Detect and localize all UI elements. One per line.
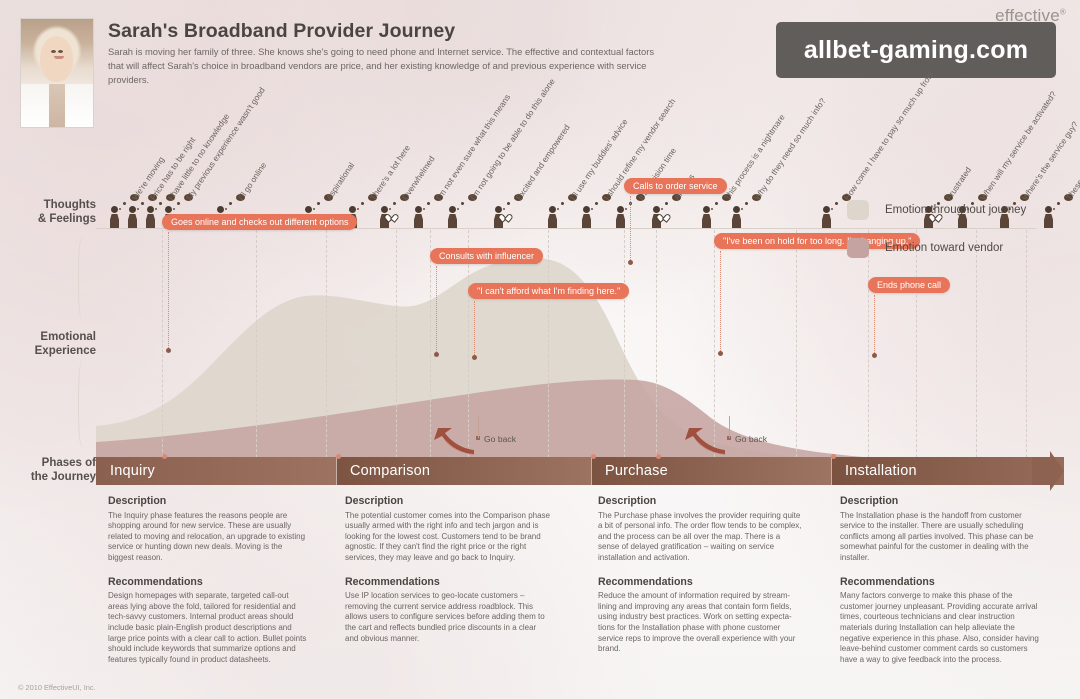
persona-head <box>449 206 456 213</box>
thought-bubble-dot <box>173 208 175 210</box>
persona-body <box>128 214 137 228</box>
row-label-thoughts-feelings: Thoughts & Feelings <box>0 198 96 226</box>
thought-label: These installation times are vague <box>1064 92 1080 202</box>
recommendations-text: Many factors converge to make this phase… <box>840 591 1045 665</box>
thought-bubble-dot <box>835 202 838 205</box>
callout-stem <box>168 232 169 348</box>
go-back-stem <box>729 416 730 438</box>
thought-bubble-dot <box>715 202 718 205</box>
phase-tick-dot <box>336 454 341 459</box>
vertical-guide <box>548 230 549 472</box>
phase-label: Installation <box>831 463 917 479</box>
description-text: The Installation phase is the handoff fr… <box>840 511 1045 564</box>
avatar-eye-right <box>58 50 63 53</box>
vertical-guide <box>796 230 797 472</box>
persona-head <box>129 206 136 213</box>
thought-label: I'll go online <box>236 160 269 202</box>
persona-body <box>110 214 119 228</box>
callout-anchor-dot <box>718 351 723 356</box>
description-block: Description The potential customer comes… <box>345 496 550 564</box>
phase-detail-comparison: Description The potential customer comes… <box>345 496 550 657</box>
persona-head <box>703 206 710 213</box>
persona-head <box>549 206 556 213</box>
heart-icon <box>387 211 395 219</box>
legend-item: Emotion toward vendor <box>847 238 1062 258</box>
thought-bubble-dot <box>561 202 564 205</box>
phase-tick-dot <box>656 454 661 459</box>
persona-body <box>732 214 741 228</box>
thought-bubble-dot <box>361 202 364 205</box>
description-block: Description The Inquiry phase features t… <box>108 496 308 564</box>
legend-label: Emotion throughout journey <box>885 204 1026 216</box>
callout-stem <box>874 295 875 353</box>
vertical-guide <box>656 230 657 472</box>
callout-stem <box>474 301 475 355</box>
go-back-arrow-icon <box>681 426 727 456</box>
vertical-guide <box>256 230 257 472</box>
phase-segment-installation[interactable]: Installation <box>831 457 1064 485</box>
journey-arrow-head-icon <box>1032 451 1064 491</box>
thought-bubble-dot <box>741 208 743 210</box>
persona-body <box>448 214 457 228</box>
recommendations-heading: Recommendations <box>108 577 308 588</box>
persona-body <box>582 214 591 228</box>
journey-callout[interactable]: Consults with influencer <box>430 248 543 264</box>
recommendations-block: Recommendations Reduce the amount of inf… <box>598 577 803 655</box>
persona-body <box>616 214 625 228</box>
phase-divider <box>336 457 337 485</box>
persona-figure <box>146 206 155 228</box>
brand-registered-mark: ® <box>1060 7 1066 16</box>
row-label-line1: Phases of <box>42 457 96 469</box>
thought-label: Aspirational <box>324 160 357 202</box>
persona-head <box>415 206 422 213</box>
thought-bubble-dot <box>225 208 227 210</box>
thought-bubble-dot <box>389 208 391 210</box>
persona-head <box>617 206 624 213</box>
persona-head <box>217 206 224 213</box>
heart-icon <box>659 211 667 219</box>
persona-head <box>823 206 830 213</box>
persona-body <box>548 214 557 228</box>
callout-anchor-dot <box>166 348 171 353</box>
thought-label: Overwhelmed <box>400 154 437 202</box>
thought-bubble-dot <box>745 202 748 205</box>
recommendations-heading: Recommendations <box>598 577 803 588</box>
recommendations-heading: Recommendations <box>345 577 550 588</box>
journey-chart: We're movingPrice has to be rightI have … <box>96 120 1064 470</box>
phase-bar: Inquiry Comparison Purchase Installation <box>96 457 1064 485</box>
row-label-line1: Thoughts <box>44 199 96 211</box>
thought-bubble-dot <box>357 208 359 210</box>
recommendations-block: Recommendations Design homepages with se… <box>108 577 308 666</box>
persona-body <box>414 214 423 228</box>
phase-divider <box>591 457 592 485</box>
thought-bubble-dot <box>155 208 157 210</box>
row-label-line2: Experience <box>35 345 96 357</box>
avatar-eye-left <box>51 50 56 53</box>
vertical-guide <box>326 230 327 472</box>
recommendations-text: Design homepages with separate, targeted… <box>108 591 308 665</box>
legend-swatch-emotion-toward-vendor <box>847 238 869 258</box>
phase-segment-comparison[interactable]: Comparison <box>336 457 591 485</box>
persona-body <box>702 214 711 228</box>
thought-bubble-dot <box>661 208 663 210</box>
callout-anchor-dot <box>434 352 439 357</box>
watermark-text: allbet-gaming.com <box>804 36 1028 65</box>
vertical-guide <box>162 230 163 472</box>
thought-bubble-dot <box>591 208 593 210</box>
callout-stem <box>720 251 721 351</box>
journey-callout[interactable]: Ends phone call <box>868 277 950 293</box>
row-label-line2: & Feelings <box>38 213 96 225</box>
journey-callout[interactable]: Calls to order service <box>624 178 727 194</box>
go-back-label: Go back <box>484 434 516 444</box>
persona-head <box>349 206 356 213</box>
phase-label: Comparison <box>336 463 430 479</box>
recommendations-text: Use IP location services to geo-locate c… <box>345 591 550 644</box>
persona-head <box>111 206 118 213</box>
phase-detail-purchase: Description The Purchase phase involves … <box>598 496 803 668</box>
phase-segment-purchase[interactable]: Purchase <box>591 457 831 485</box>
persona-figure <box>494 206 503 228</box>
thought-bubble-dot <box>507 202 510 205</box>
thought-bubble-dot <box>457 208 459 210</box>
thought-bubble-dot <box>625 208 627 210</box>
callout-anchor-dot <box>472 355 477 360</box>
thought-bubble-dot <box>557 208 559 210</box>
thought-label: Frustrated <box>944 165 973 202</box>
legend-swatch-emotion-throughout-journey <box>847 200 869 220</box>
thought-label: How come I have to pay so much up front <box>842 69 936 202</box>
thought-label: Excited and empowered <box>514 123 572 202</box>
persona-head <box>583 206 590 213</box>
callout-anchor-dot <box>872 353 877 358</box>
thought-bubble-dot <box>317 202 320 205</box>
phase-detail-inquiry: Description The Inquiry phase features t… <box>108 496 308 678</box>
phase-label: Inquiry <box>96 463 155 479</box>
phase-tick-dot <box>831 454 836 459</box>
thought-bubble-dot <box>177 202 180 205</box>
thought-bubble-dot <box>159 202 162 205</box>
thought-bubble-dot <box>229 202 232 205</box>
persona-head <box>165 206 172 213</box>
thought-bubble-dot <box>595 202 598 205</box>
phase-tick-dot <box>162 454 167 459</box>
persona-figure <box>128 206 137 228</box>
thought-bubble-dot <box>711 208 713 210</box>
avatar-mouth <box>54 56 64 59</box>
description-heading: Description <box>598 496 803 507</box>
persona-body <box>822 214 831 228</box>
brace-divider-upper <box>78 236 89 322</box>
row-label-phases-of-journey: Phases of the Journey <box>0 456 96 484</box>
row-label-emotional-experience: Emotional Experience <box>0 330 96 358</box>
recommendations-text: Reduce the amount of information require… <box>598 591 803 655</box>
persona-figure <box>548 206 557 228</box>
phase-detail-installation: Description The Installation phase is th… <box>840 496 1045 678</box>
description-heading: Description <box>108 496 308 507</box>
persona-figure <box>110 206 119 228</box>
persona-figure <box>732 206 741 228</box>
callout-stem <box>436 266 437 352</box>
persona-figure <box>702 206 711 228</box>
legend-label: Emotion toward vendor <box>885 242 1003 254</box>
description-block: Description The Installation phase is th… <box>840 496 1045 564</box>
description-block: Description The Purchase phase involves … <box>598 496 803 564</box>
description-text: The Purchase phase involves the provider… <box>598 511 803 564</box>
avatar <box>20 18 94 128</box>
page-intro: Sarah is moving her family of three. She… <box>108 45 668 87</box>
thought-bubble-dot <box>313 208 315 210</box>
go-back-stem <box>478 416 479 438</box>
thought-bubble-dot <box>427 202 430 205</box>
thought-label: I'll use my buddies' advice <box>568 117 630 202</box>
copyright-notice: © 2010 EffectiveUI, Inc. <box>18 683 96 692</box>
journey-callout[interactable]: Goes online and checks out different opt… <box>162 214 357 230</box>
heart-icon <box>501 211 509 219</box>
watermark-banner: allbet-gaming.com <box>776 22 1056 78</box>
persona-figure <box>448 206 457 228</box>
brace-divider-lower <box>78 360 89 448</box>
vertical-guide <box>624 230 625 472</box>
recommendations-heading: Recommendations <box>840 577 1045 588</box>
persona-figure <box>414 206 423 228</box>
phase-tick-dot <box>591 454 596 459</box>
callout-stem <box>630 196 631 260</box>
phase-divider <box>831 457 832 485</box>
recommendations-block: Recommendations Use IP location services… <box>345 577 550 645</box>
avatar-coat <box>21 84 93 127</box>
persona-figure <box>582 206 591 228</box>
thought-bubble-dot <box>137 208 139 210</box>
thought-bubble-dot <box>423 208 425 210</box>
persona-head <box>733 206 740 213</box>
thought-bubble-dot <box>141 202 144 205</box>
vertical-guide <box>396 230 397 472</box>
legend-item: Emotion throughout journey <box>847 200 1062 220</box>
thought-bubble-dot <box>503 208 505 210</box>
phase-segment-inquiry[interactable]: Inquiry <box>96 457 336 485</box>
page-title: Sarah's Broadband Provider Journey <box>108 20 455 43</box>
journey-callout[interactable]: "I can't afford what I'm finding here." <box>468 283 629 299</box>
thought-bubble-dot <box>831 208 833 210</box>
thought-bubble-dot <box>665 202 668 205</box>
persona-figure <box>652 206 661 228</box>
thought-bubble-dot <box>123 202 126 205</box>
thought-bubble-dot <box>393 202 396 205</box>
phase-label: Purchase <box>591 463 668 479</box>
callout-anchor-dot <box>628 260 633 265</box>
persona-figure <box>822 206 831 228</box>
row-label-line1: Emotional <box>40 331 96 343</box>
go-back-label: Go back <box>735 434 767 444</box>
persona-body <box>146 214 155 228</box>
persona-figure <box>380 206 389 228</box>
thought-bubble-dot <box>461 202 464 205</box>
thought-bubble-dot <box>119 208 121 210</box>
go-back-arrow-icon <box>430 426 476 456</box>
row-label-line2: the Journey <box>31 471 96 483</box>
description-heading: Description <box>840 496 1045 507</box>
description-text: The potential customer comes into the Co… <box>345 511 550 564</box>
thought-label: When will my service be activated? <box>978 89 1058 202</box>
persona-head <box>147 206 154 213</box>
avatar-face <box>40 36 73 81</box>
description-heading: Description <box>345 496 550 507</box>
description-text: The Inquiry phase features the reasons p… <box>108 511 308 564</box>
persona-figure <box>616 206 625 228</box>
recommendations-block: Recommendations Many factors converge to… <box>840 577 1045 666</box>
legend: Emotion throughout journey Emotion towar… <box>847 200 1062 276</box>
